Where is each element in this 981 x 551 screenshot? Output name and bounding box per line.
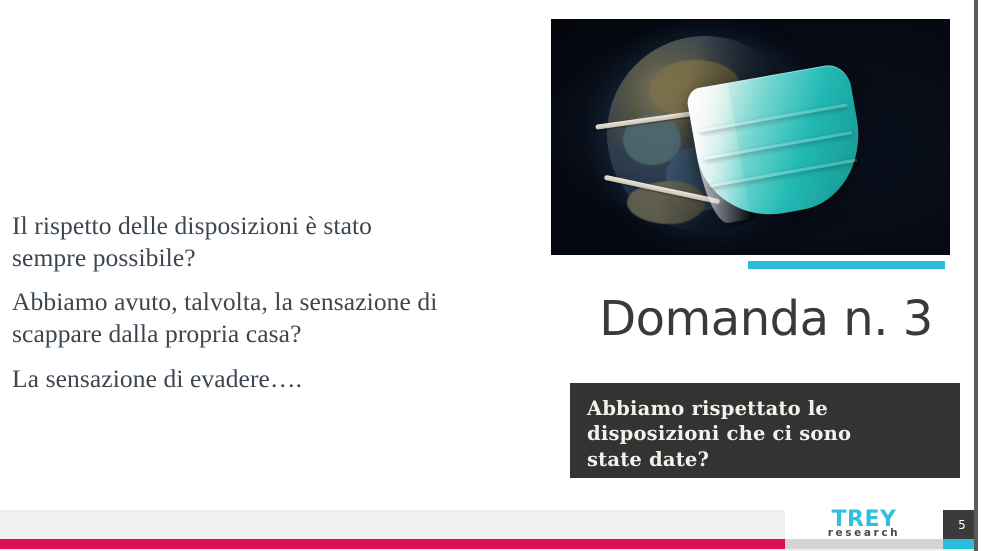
caption-box: Abbiamo rispettato le disposizioni che c… [570, 383, 960, 478]
footer-color-strip [0, 539, 981, 549]
slide-title: Domanda n. 3 [570, 291, 962, 347]
footer-strip-gray [785, 539, 943, 549]
footer-strip-crimson [0, 539, 785, 549]
body-paragraph-3: La sensazione di evadere…. [12, 363, 442, 395]
logo-secondary-text: research [785, 527, 943, 539]
slide-body-text: Il rispetto delle disposizioni è stato s… [12, 210, 442, 395]
caption-text: Abbiamo rispettato le disposizioni che c… [587, 396, 907, 472]
cyan-accent-bar [748, 261, 945, 269]
body-paragraph-1: Il rispetto delle disposizioni è stato s… [12, 210, 442, 274]
slide-canvas: Il rispetto delle disposizioni è stato s… [0, 0, 981, 551]
body-paragraph-2: Abbiamo avuto, talvolta, la sensazione d… [12, 286, 442, 350]
trey-research-logo: TREY research [785, 510, 943, 539]
globe-with-surgical-mask-image [551, 19, 950, 255]
